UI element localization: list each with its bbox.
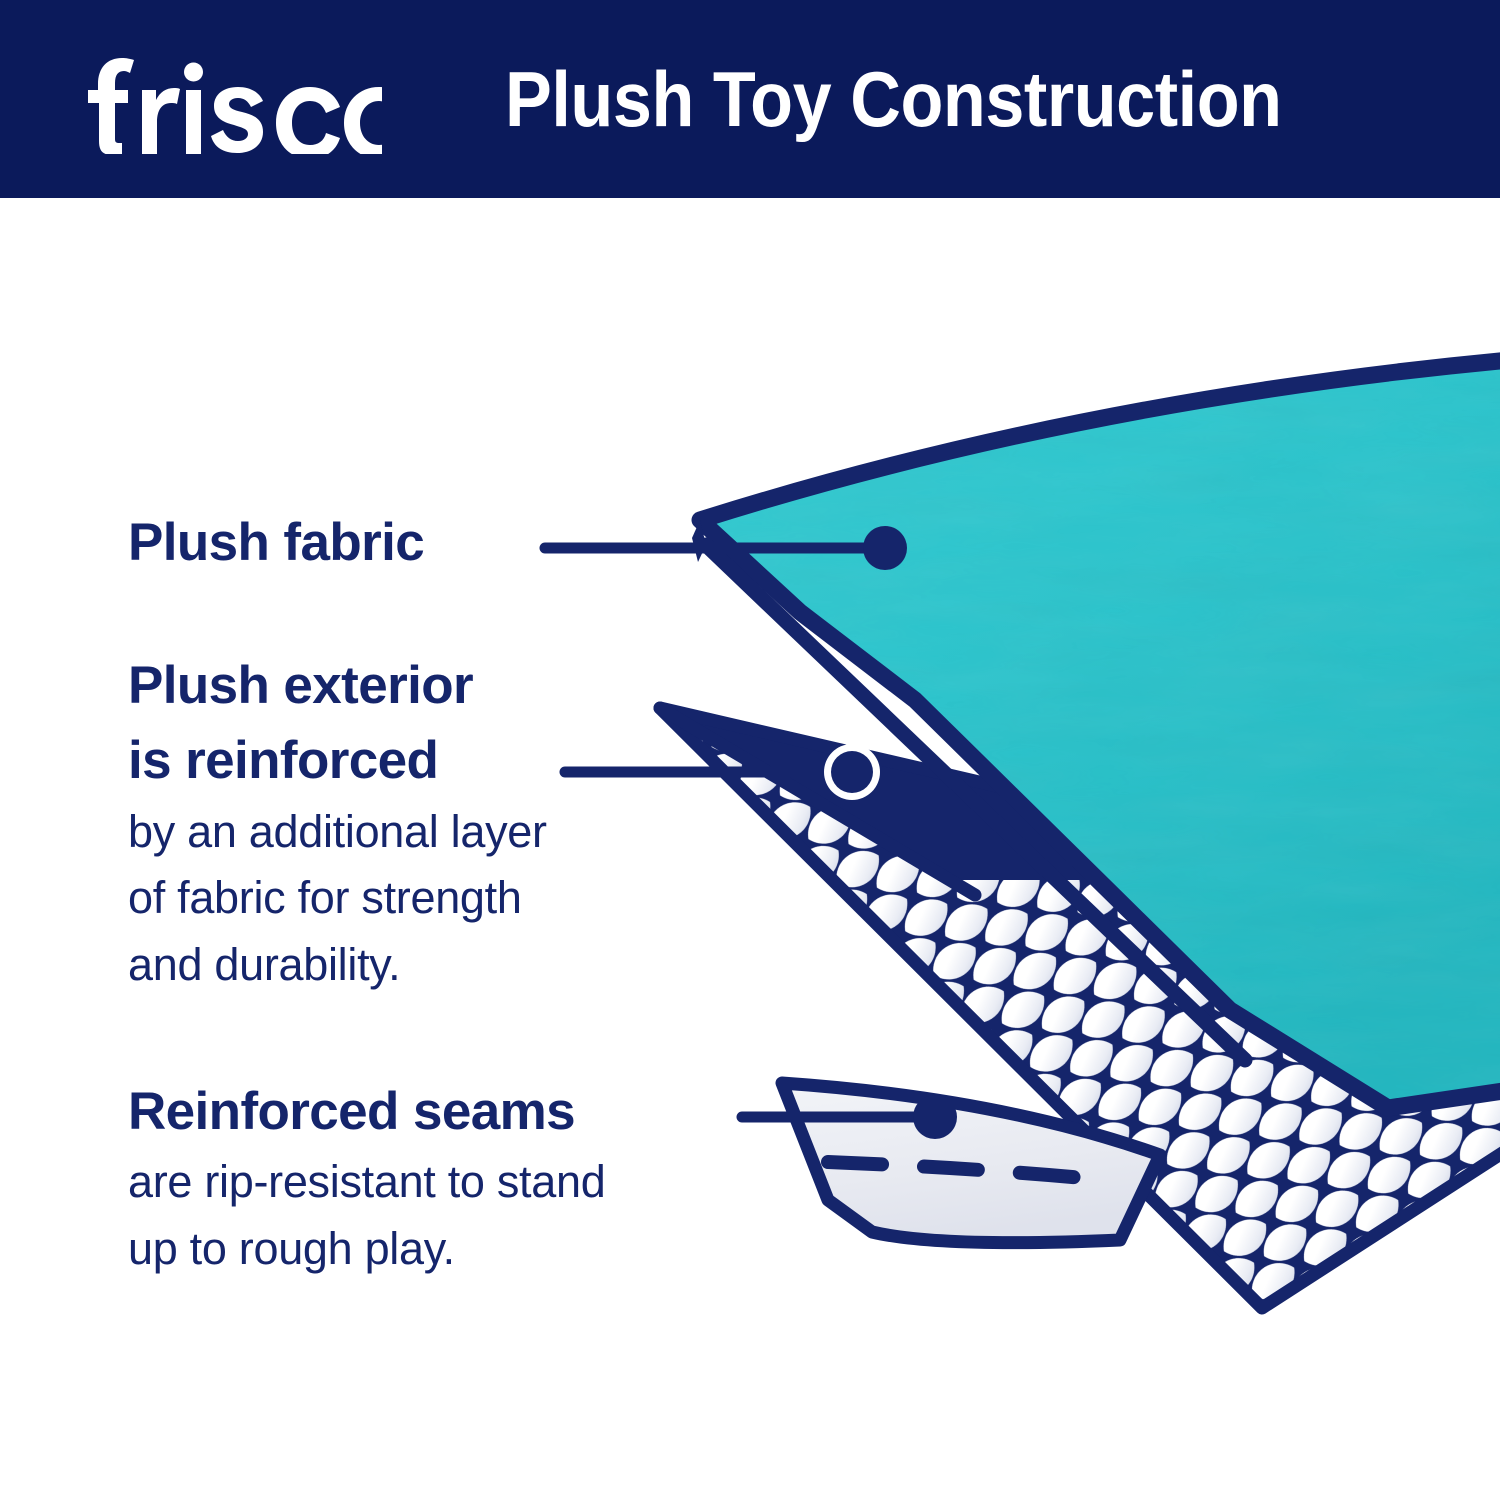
- frisco-logo: ®: [82, 44, 382, 154]
- page-title: Plush Toy Construction: [505, 44, 1315, 154]
- callout-reinforced-seams-heading: Reinforced seams: [128, 1074, 605, 1149]
- leader-dot-plush-fabric: [863, 526, 907, 570]
- leader-dot-plush-exterior: [831, 751, 873, 793]
- callout-reinforced-seams: Reinforced seams are rip-resistant to st…: [128, 1074, 605, 1282]
- callout-reinforced-seams-body: are rip-resistant to stand up to rough p…: [128, 1149, 605, 1282]
- callout-plush-fabric-heading: Plush fabric: [128, 505, 424, 580]
- leader-dot-reinforced-seams: [913, 1095, 957, 1139]
- plush-toy-construction-infographic: ® Plush Toy Construction: [0, 0, 1500, 1500]
- header-bar: ® Plush Toy Construction: [0, 0, 1500, 198]
- callout-plush-fabric: Plush fabric: [128, 505, 424, 580]
- callout-plush-exterior-heading: Plush exterior is reinforced: [128, 648, 547, 799]
- callout-plush-exterior-body: by an additional layer of fabric for str…: [128, 799, 547, 999]
- callout-plush-exterior: Plush exterior is reinforced by an addit…: [128, 648, 547, 998]
